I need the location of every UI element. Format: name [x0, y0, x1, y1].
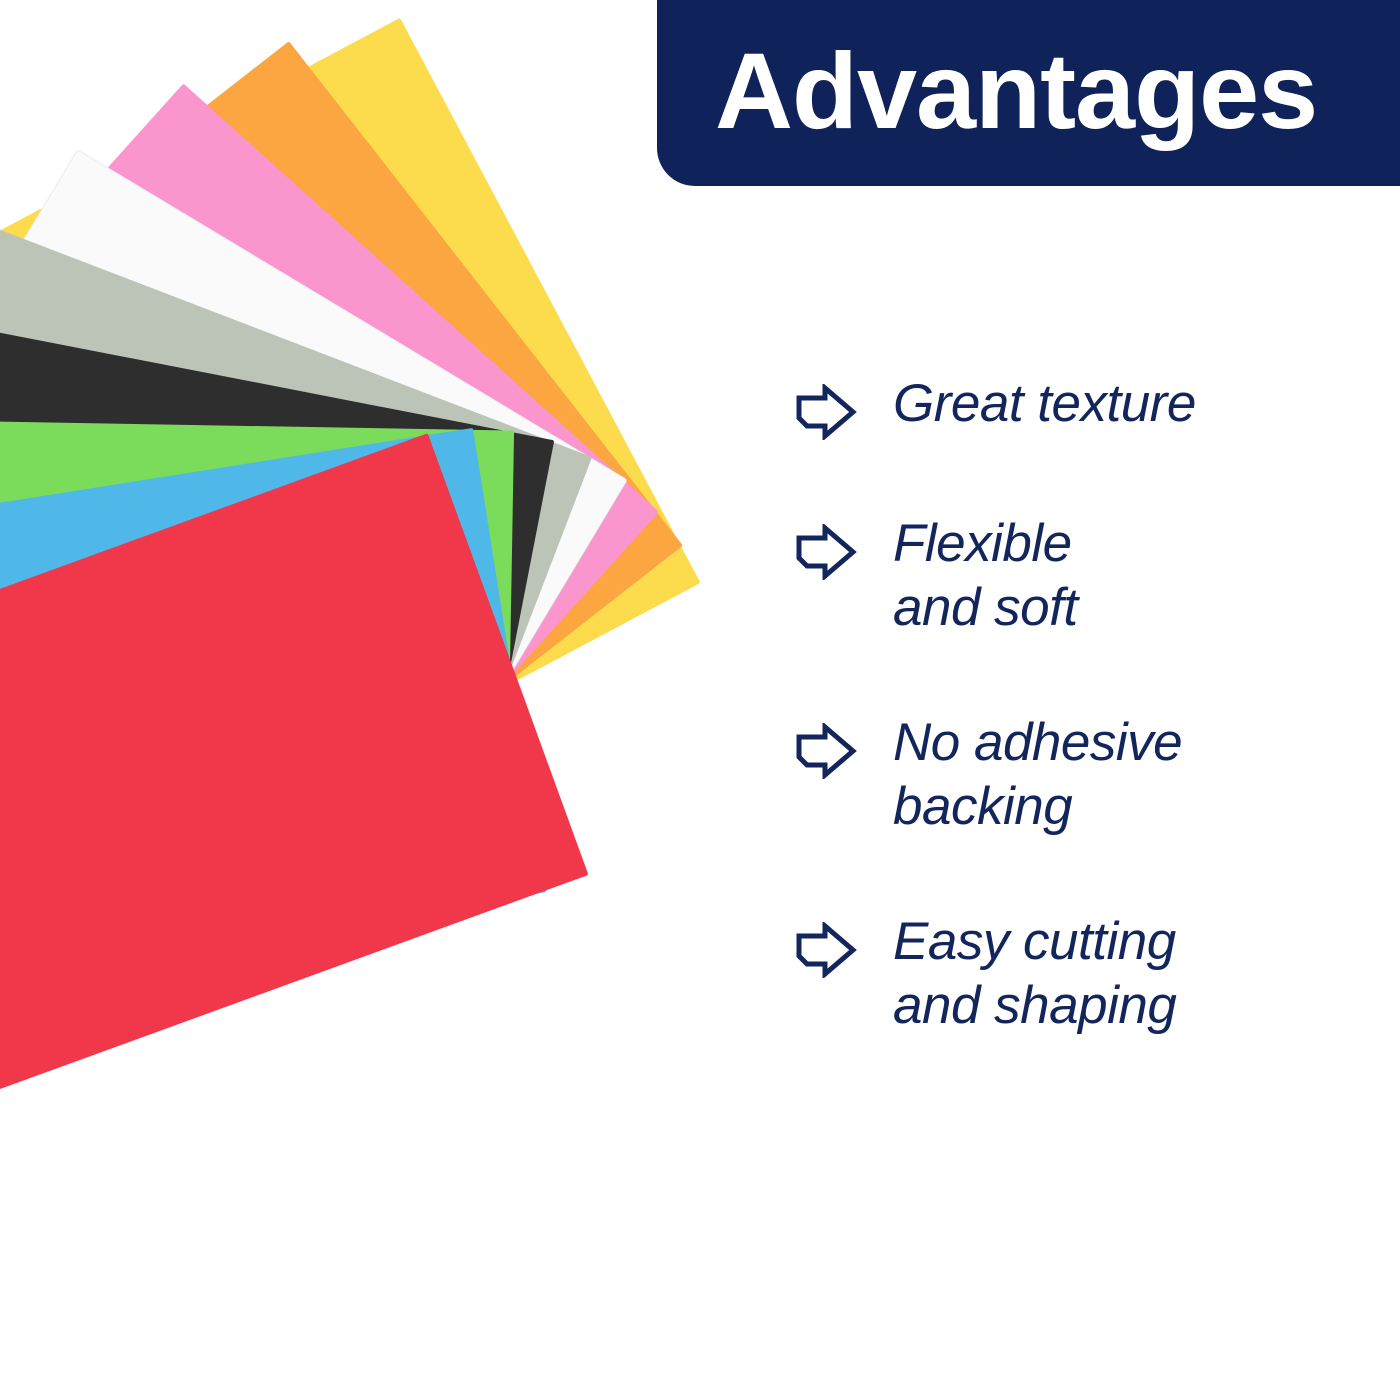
arrow-bullet-icon	[795, 922, 857, 978]
advantage-item: Easy cuttingand shaping	[795, 910, 1355, 1037]
advantage-item: Great texture	[795, 372, 1355, 440]
page-title: Advantages	[715, 37, 1317, 145]
arrow-bullet-icon	[795, 524, 857, 580]
advantages-list: Great textureFlexibleand softNo adhesive…	[795, 372, 1355, 1038]
advantage-label: Great texture	[893, 372, 1196, 436]
advantage-label-line: Flexible	[893, 512, 1078, 576]
advantage-label-line: backing	[893, 775, 1182, 839]
advantage-label: Easy cuttingand shaping	[893, 910, 1176, 1037]
advantage-label-line: and soft	[893, 576, 1078, 640]
header-banner: Advantages	[657, 0, 1400, 186]
advantage-item: Flexibleand soft	[795, 512, 1355, 639]
infographic-page: Advantages Great textureFlexibleand soft…	[0, 0, 1400, 1400]
advantage-label-line: No adhesive	[893, 711, 1182, 775]
advantage-label-line: and shaping	[893, 974, 1176, 1038]
advantage-label-line: Easy cutting	[893, 910, 1176, 974]
arrow-bullet-icon	[795, 723, 857, 779]
advantage-item: No adhesivebacking	[795, 711, 1355, 838]
advantage-label-line: Great texture	[893, 372, 1196, 436]
advantage-label: No adhesivebacking	[893, 711, 1182, 838]
arrow-bullet-icon	[795, 384, 857, 440]
advantage-label: Flexibleand soft	[893, 512, 1078, 639]
product-sheet-fan	[0, 0, 760, 1400]
